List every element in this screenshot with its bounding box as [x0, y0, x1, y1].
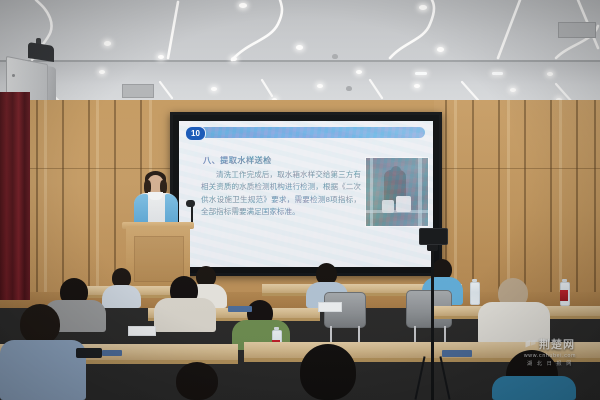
- bottle-cap: [562, 279, 567, 282]
- water-bottle: [470, 282, 480, 305]
- slide-heading: 八、提取水样送检: [203, 154, 272, 166]
- watermark-logo-icon: [525, 339, 536, 350]
- ceiling: [0, 0, 600, 112]
- attendee-body: [492, 376, 576, 400]
- ceiling-sensor: [332, 54, 338, 59]
- downlight: [510, 88, 516, 92]
- downlight: [296, 45, 303, 50]
- ceiling-vent: [558, 22, 596, 38]
- attendee-head: [300, 344, 356, 400]
- ceiling-sensor: [346, 86, 352, 91]
- slide-header-bar: [187, 127, 425, 138]
- photo-scene: 10 八、提取水样送检 清洗工作完成后，取水箱水样交给第三方有相关资质的水质检测…: [0, 0, 600, 400]
- watermark-subtitle: 湖 北 日 报 网: [527, 360, 573, 367]
- slide-body-text: 清洗工作完成后，取水箱水样交给第三方有相关资质的水质检测机构进行检测，根据《二次…: [201, 169, 361, 219]
- downlight: [104, 41, 111, 46]
- linear-light: [492, 72, 503, 75]
- downlight: [99, 70, 105, 74]
- projection-screen: 10 八、提取水样送检 清洗工作完成后，取水箱水样交给第三方有相关资质的水质检测…: [170, 112, 442, 276]
- downlight: [231, 57, 237, 61]
- attendee-body: [0, 340, 86, 400]
- bottle-label: [560, 290, 568, 301]
- smartphone-recording: [419, 228, 448, 245]
- downlight: [437, 47, 444, 52]
- downlight: [356, 70, 362, 74]
- speaker-screw: [12, 74, 15, 77]
- microphone-head: [186, 200, 195, 207]
- watermark-url: www.cnhubei.com: [524, 353, 576, 359]
- watermark: 荆楚网 www.cnhubei.com 湖 北 日 报 网: [508, 338, 592, 365]
- downlight: [239, 3, 247, 8]
- notebook: [442, 350, 472, 357]
- paper-handout: [128, 326, 156, 336]
- downlight: [317, 84, 323, 88]
- slide-inset-photo: [365, 157, 429, 227]
- downlight: [211, 87, 217, 91]
- smartphone-on-desk: [76, 348, 102, 358]
- tripod-leg: [439, 356, 450, 399]
- ceiling-vent: [122, 84, 154, 98]
- slide-number-badge: 10: [185, 126, 206, 141]
- tripod-pole: [431, 245, 434, 400]
- watermark-brand: 荆楚网: [539, 336, 575, 352]
- downlight: [414, 84, 420, 88]
- attendee-head: [176, 362, 218, 400]
- sample-container: [396, 196, 411, 212]
- tripod-leg: [414, 356, 425, 399]
- linear-light: [415, 72, 427, 75]
- bottle-cap: [274, 327, 279, 330]
- attendee-body: [154, 298, 216, 332]
- presentation-slide: 10 八、提取水样送检 清洗工作完成后，取水箱水样交给第三方有相关资质的水质检测…: [179, 121, 433, 267]
- worker-head: [391, 166, 401, 175]
- downlight: [419, 5, 427, 10]
- ceiling-edge-line: [0, 60, 600, 62]
- downlight: [547, 72, 553, 76]
- sample-container: [382, 200, 394, 213]
- notebook: [102, 350, 122, 356]
- attendee-head: [20, 304, 60, 344]
- attendee-body: [102, 285, 141, 308]
- red-curtain: [0, 92, 30, 300]
- paper-handout: [318, 302, 342, 312]
- bottle-cap: [472, 279, 477, 282]
- downlight: [158, 55, 164, 59]
- notebook: [228, 306, 252, 312]
- podium-front-panel: [134, 236, 184, 282]
